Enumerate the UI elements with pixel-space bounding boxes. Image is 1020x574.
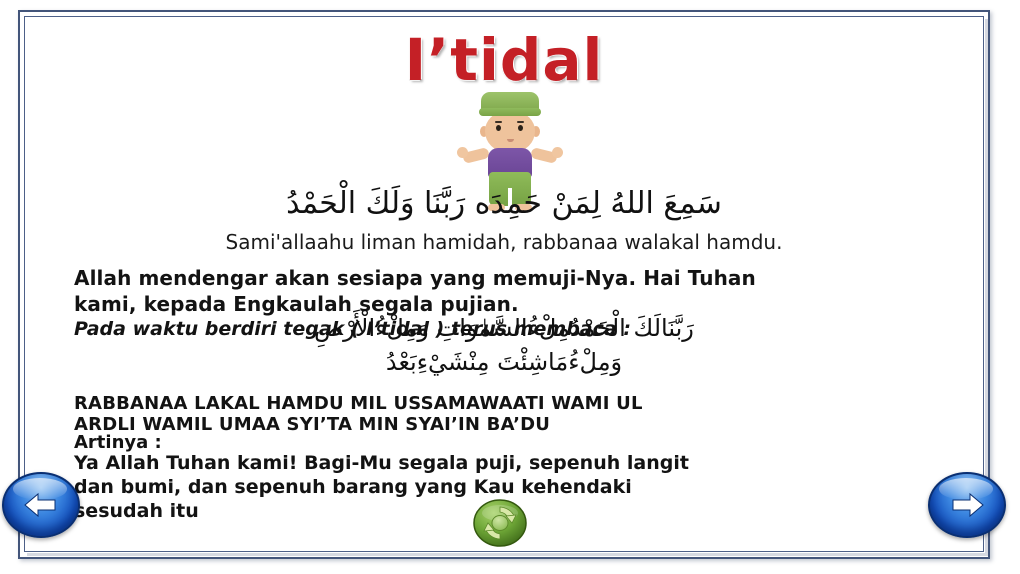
translation-line-1: Allah mendengar akan sesiapa yang memuji… [74, 266, 954, 292]
arabic-primary-text: سَمِعَ اللهُ لِمَنْ حَمِدَه رَبَّنَا وَل… [30, 188, 978, 220]
figure-eye-right [518, 125, 523, 131]
figure-hand-right [552, 147, 563, 158]
artinya-label: Artinya : [74, 432, 954, 453]
figure-eyebrow-right [517, 121, 524, 123]
praying-boy-illustration [455, 92, 565, 192]
transliteration-primary: Sami'allaahu liman hamidah, rabbanaa wal… [30, 230, 978, 254]
meaning-line-2: dan bumi, dan sepenuh barang yang Kau ke… [74, 476, 954, 500]
next-button[interactable] [928, 472, 1006, 538]
transliteration-caps-line-1: RABBANAA LAKAL HAMDU MIL USSAMAWAATI WAM… [74, 393, 954, 414]
figure-hand-left [457, 147, 468, 158]
transliteration-caps: RABBANAA LAKAL HAMDU MIL USSAMAWAATI WAM… [74, 393, 954, 435]
arrow-right-icon [947, 490, 987, 520]
figure-eyebrow-left [495, 121, 502, 123]
meaning-line-1: Ya Allah Tuhan kami! Bagi-Mu segala puji… [74, 452, 954, 476]
translation-paragraph: Allah mendengar akan sesiapa yang memuji… [74, 266, 954, 317]
slide-content: I’tidal سَمِعَ اللهُ لِمَنْ حَمِدَه رَبّ… [30, 20, 978, 546]
arabic-secondary-line-1: رَبَّنَالَكَ الْحَمْدُمِلْءُالسَّمٰوَاتِ… [30, 316, 978, 341]
figure-eye-left [496, 125, 501, 131]
slide-container: I’tidal سَمِعَ اللهُ لِمَنْ حَمِدَه رَبّ… [0, 0, 1020, 574]
prev-button[interactable] [2, 472, 80, 538]
figure-cap-band [479, 108, 541, 116]
figure-head [485, 112, 535, 152]
refresh-repeat-icon[interactable] [472, 498, 528, 548]
arrow-left-icon [21, 490, 61, 520]
page-title: I’tidal [30, 26, 978, 94]
arabic-secondary-line-2: وَمِلْءُمَاشِئْتَ مِنْشَيْءِبَعْدُ [30, 350, 978, 375]
